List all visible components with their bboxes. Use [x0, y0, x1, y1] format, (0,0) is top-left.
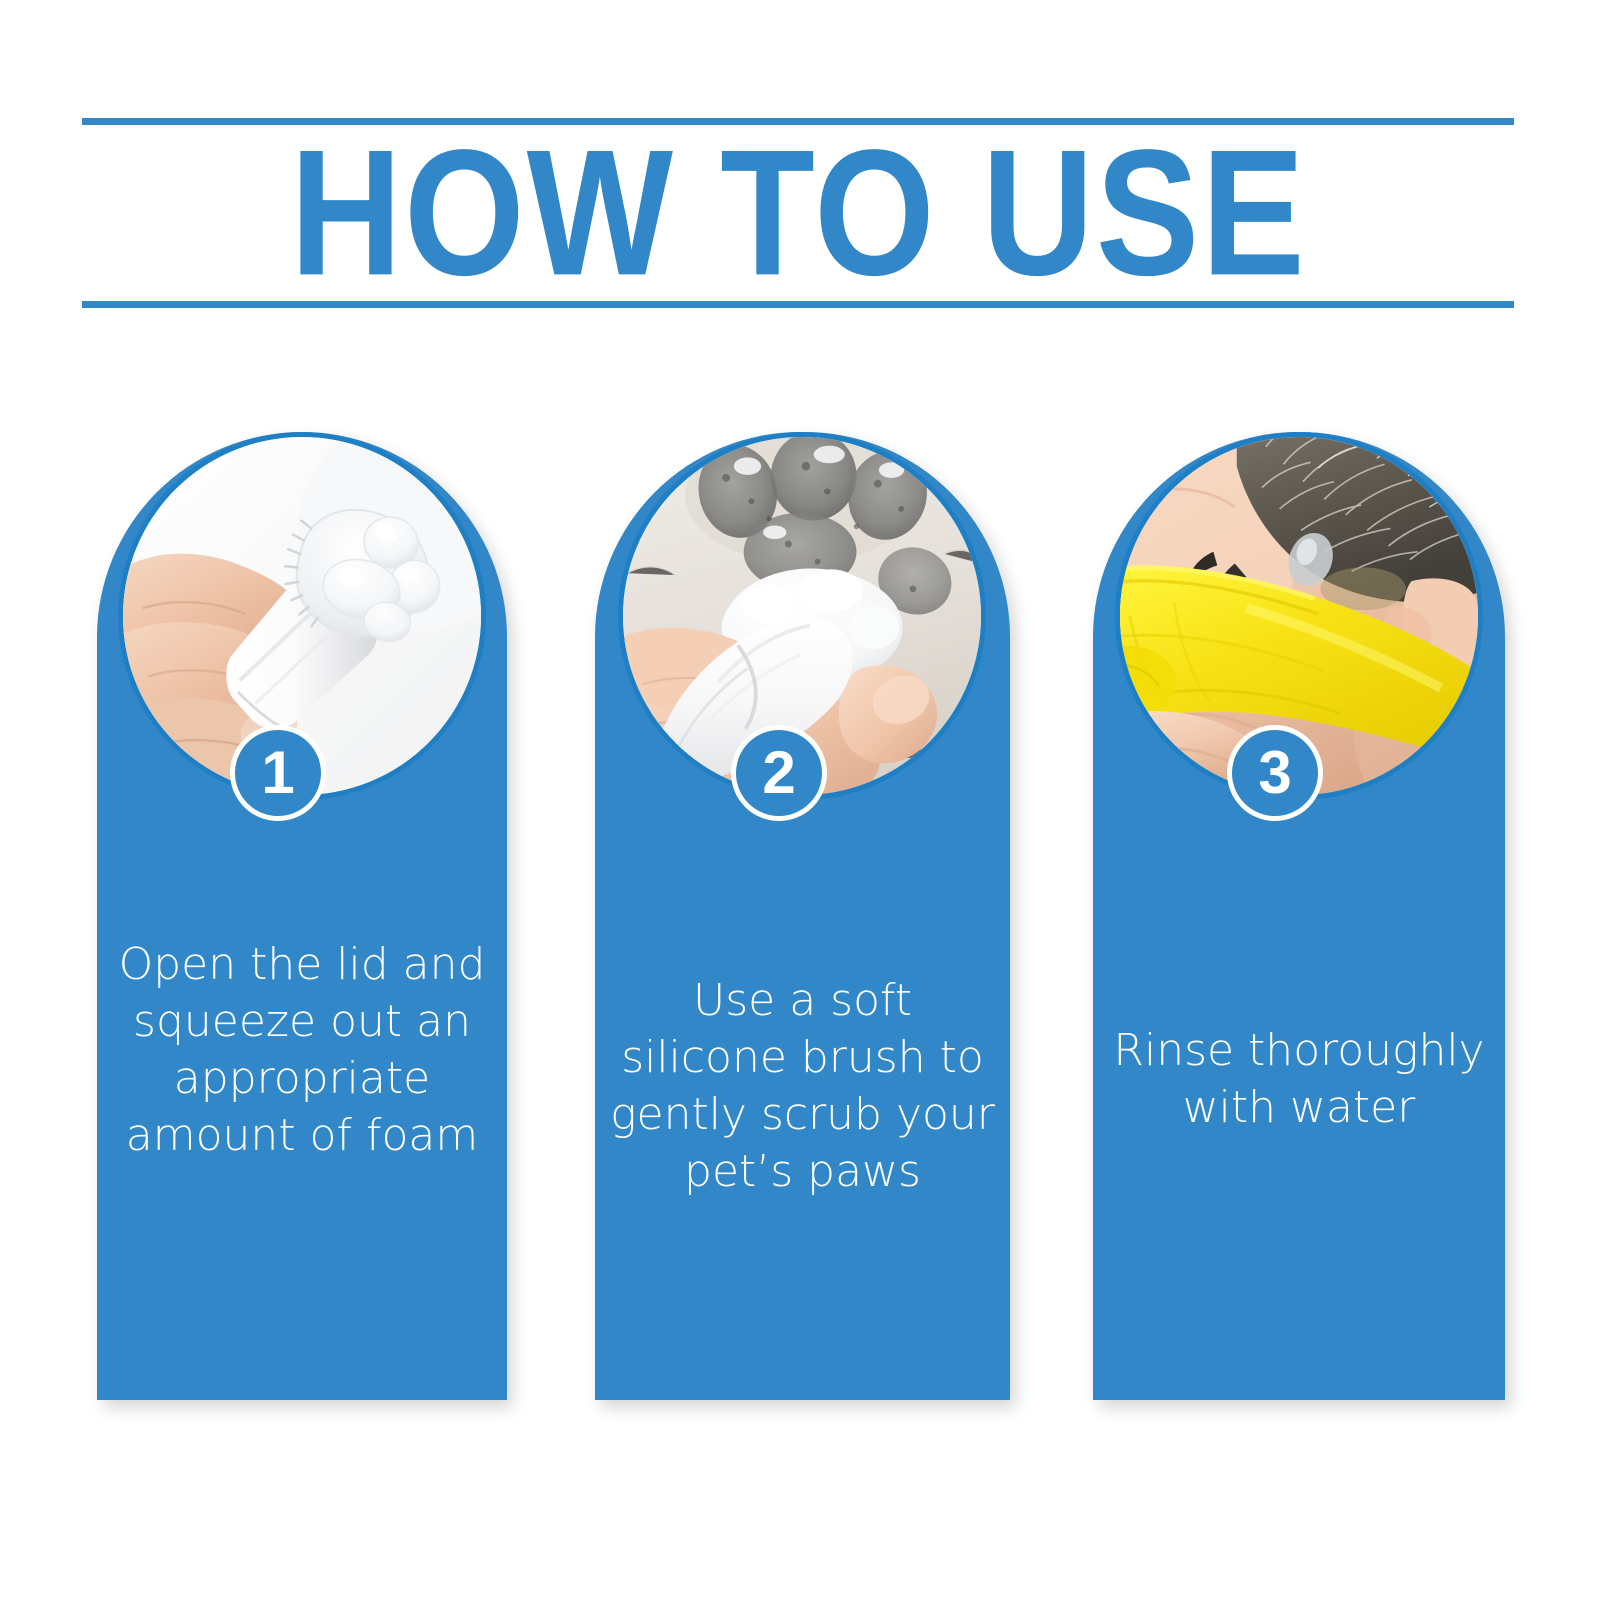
step-badge-1: 1: [230, 725, 326, 821]
header-bottom-rule: [82, 301, 1514, 308]
step-badge-2: 2: [731, 725, 827, 821]
page-title-text: HOW TO USE: [290, 125, 1307, 302]
page-title: HOW TO USE: [82, 138, 1514, 288]
step-caption-2: Use a soft silicone brush to gently scru…: [609, 972, 996, 1200]
step-caption-3: Rinse thoroughly with water: [1107, 1022, 1491, 1136]
page-header: HOW TO USE: [82, 118, 1514, 308]
step-badge-3: 3: [1227, 725, 1323, 821]
step-caption-1: Open the lid and squeeze out an appropri…: [111, 936, 493, 1164]
